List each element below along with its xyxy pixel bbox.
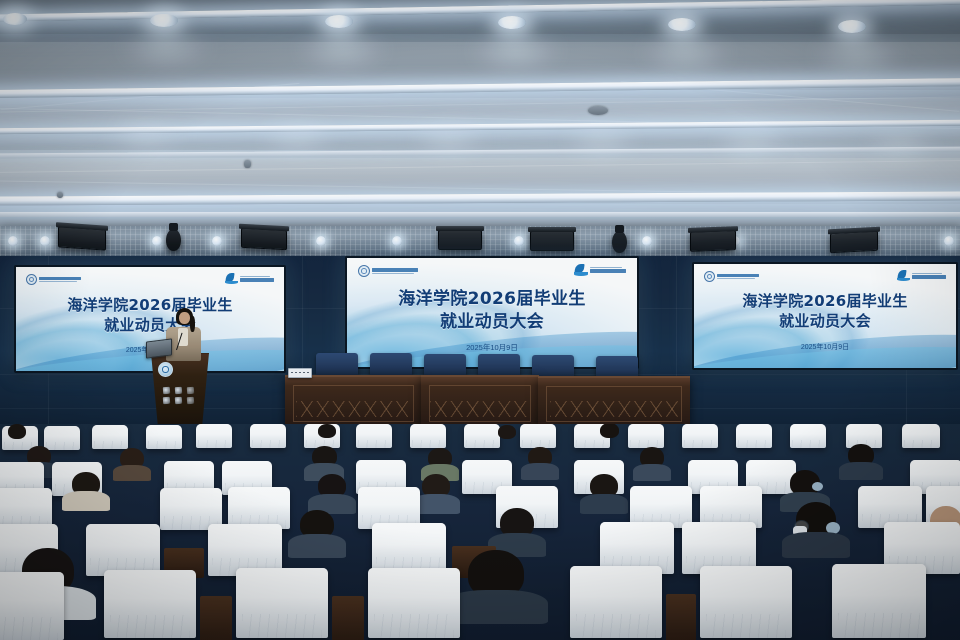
covered-chair[interactable] [628, 424, 664, 448]
sprinkler-head [57, 192, 63, 198]
lectern-calligraphy [163, 387, 194, 404]
sprinkler-head [244, 160, 251, 168]
stage-par-light [530, 231, 574, 251]
covered-chair[interactable] [104, 570, 196, 638]
covered-chair[interactable] [520, 424, 556, 448]
screen-title-line1: 海洋学院2026届毕业生 [16, 294, 284, 315]
stage-par-light [690, 230, 736, 252]
ceiling [0, 0, 960, 250]
covered-chair[interactable] [902, 424, 940, 448]
table-nameplate [288, 368, 312, 378]
university-crest-logo [704, 271, 759, 282]
covered-chair[interactable] [196, 424, 232, 448]
presenter-face [179, 312, 190, 324]
covered-chair[interactable] [356, 424, 392, 448]
covered-chair[interactable] [250, 424, 286, 448]
screen-title-line2: 就业动员大会 [694, 310, 956, 331]
covered-chair[interactable] [44, 426, 80, 450]
head-table-chair [316, 353, 358, 375]
calligraphy-column-3 [187, 387, 194, 404]
screen-title-line1: 海洋学院2026届毕业生 [694, 290, 956, 311]
ocean-college-sail-logo [897, 270, 946, 281]
head-table-chair [478, 354, 520, 376]
truss-downlight [514, 236, 524, 246]
ceiling-downlight [668, 18, 696, 31]
truss-downlight [944, 236, 954, 246]
truss-downlight [40, 236, 50, 246]
screen-date: 2025年10月9日 [347, 342, 637, 353]
ceiling-downlight [150, 14, 178, 27]
presenter-ponytail [190, 316, 195, 332]
covered-chair[interactable] [86, 524, 160, 576]
covered-chair[interactable] [464, 424, 500, 448]
sprinkler-head [588, 106, 608, 115]
truss-downlight [642, 236, 652, 246]
ceiling-light-strip [0, 212, 960, 217]
ceiling-downlight [3, 13, 27, 25]
moving-head-spotlight [166, 229, 181, 251]
ceiling-downlight [325, 15, 353, 28]
head-table [538, 376, 690, 429]
head-table-chair [370, 353, 412, 375]
hair-scrunchie [812, 482, 823, 491]
lectern-emblem [158, 362, 173, 377]
auditorium-photo: 海洋学院2026届毕业生 就业动员大会 2025年10月9日 海洋学院2026届… [0, 0, 960, 640]
covered-chair[interactable] [92, 425, 128, 449]
ocean-college-sail-logo [574, 264, 626, 276]
covered-chair[interactable] [700, 566, 792, 638]
screen-date: 2025年10月9日 [694, 342, 956, 352]
university-crest-logo [26, 274, 81, 285]
covered-chair[interactable] [682, 424, 718, 448]
head-table-chair [532, 355, 574, 377]
moving-head-spotlight [612, 231, 627, 253]
stage-par-light [58, 226, 106, 250]
truss-downlight [316, 236, 326, 246]
stage-par-light [830, 231, 878, 254]
stage-par-light [241, 228, 287, 250]
head-table [285, 375, 422, 429]
truss-downlight [152, 236, 162, 246]
ocean-college-sail-logo [225, 273, 274, 284]
screen-title-line2: 就业动员大会 [16, 314, 284, 335]
covered-chair[interactable] [368, 568, 460, 638]
covered-chair[interactable] [832, 564, 926, 638]
truss-downlight [392, 236, 402, 246]
truss-downlight [212, 236, 222, 246]
stage-par-light [438, 230, 482, 250]
head-table-chair [424, 354, 466, 376]
covered-chair[interactable] [570, 566, 662, 638]
screen-title-line2: 就业动员大会 [347, 307, 637, 332]
calligraphy-column-2 [175, 387, 182, 404]
covered-chair[interactable] [410, 424, 446, 448]
covered-chair[interactable] [790, 424, 826, 448]
lectern [151, 353, 209, 427]
university-crest-logo [358, 265, 418, 277]
head-table [421, 375, 539, 429]
calligraphy-column-1 [163, 387, 170, 404]
ceiling-downlight [498, 16, 526, 29]
covered-chair[interactable] [736, 424, 772, 448]
led-screen-right: 海洋学院2026届毕业生 就业动员大会 2025年10月9日 [692, 262, 958, 370]
lighting-truss [0, 226, 960, 260]
truss-downlight [8, 236, 18, 246]
head-table-chair [596, 356, 638, 378]
ceiling-downlight [838, 20, 866, 33]
screen-title-line1: 海洋学院2026届毕业生 [347, 284, 637, 309]
covered-chair[interactable] [228, 487, 290, 529]
covered-chair[interactable] [236, 568, 328, 638]
lectern-laptop [146, 338, 172, 358]
covered-chair[interactable] [0, 572, 64, 640]
covered-chair[interactable] [146, 425, 182, 449]
audience-seating [0, 424, 960, 640]
